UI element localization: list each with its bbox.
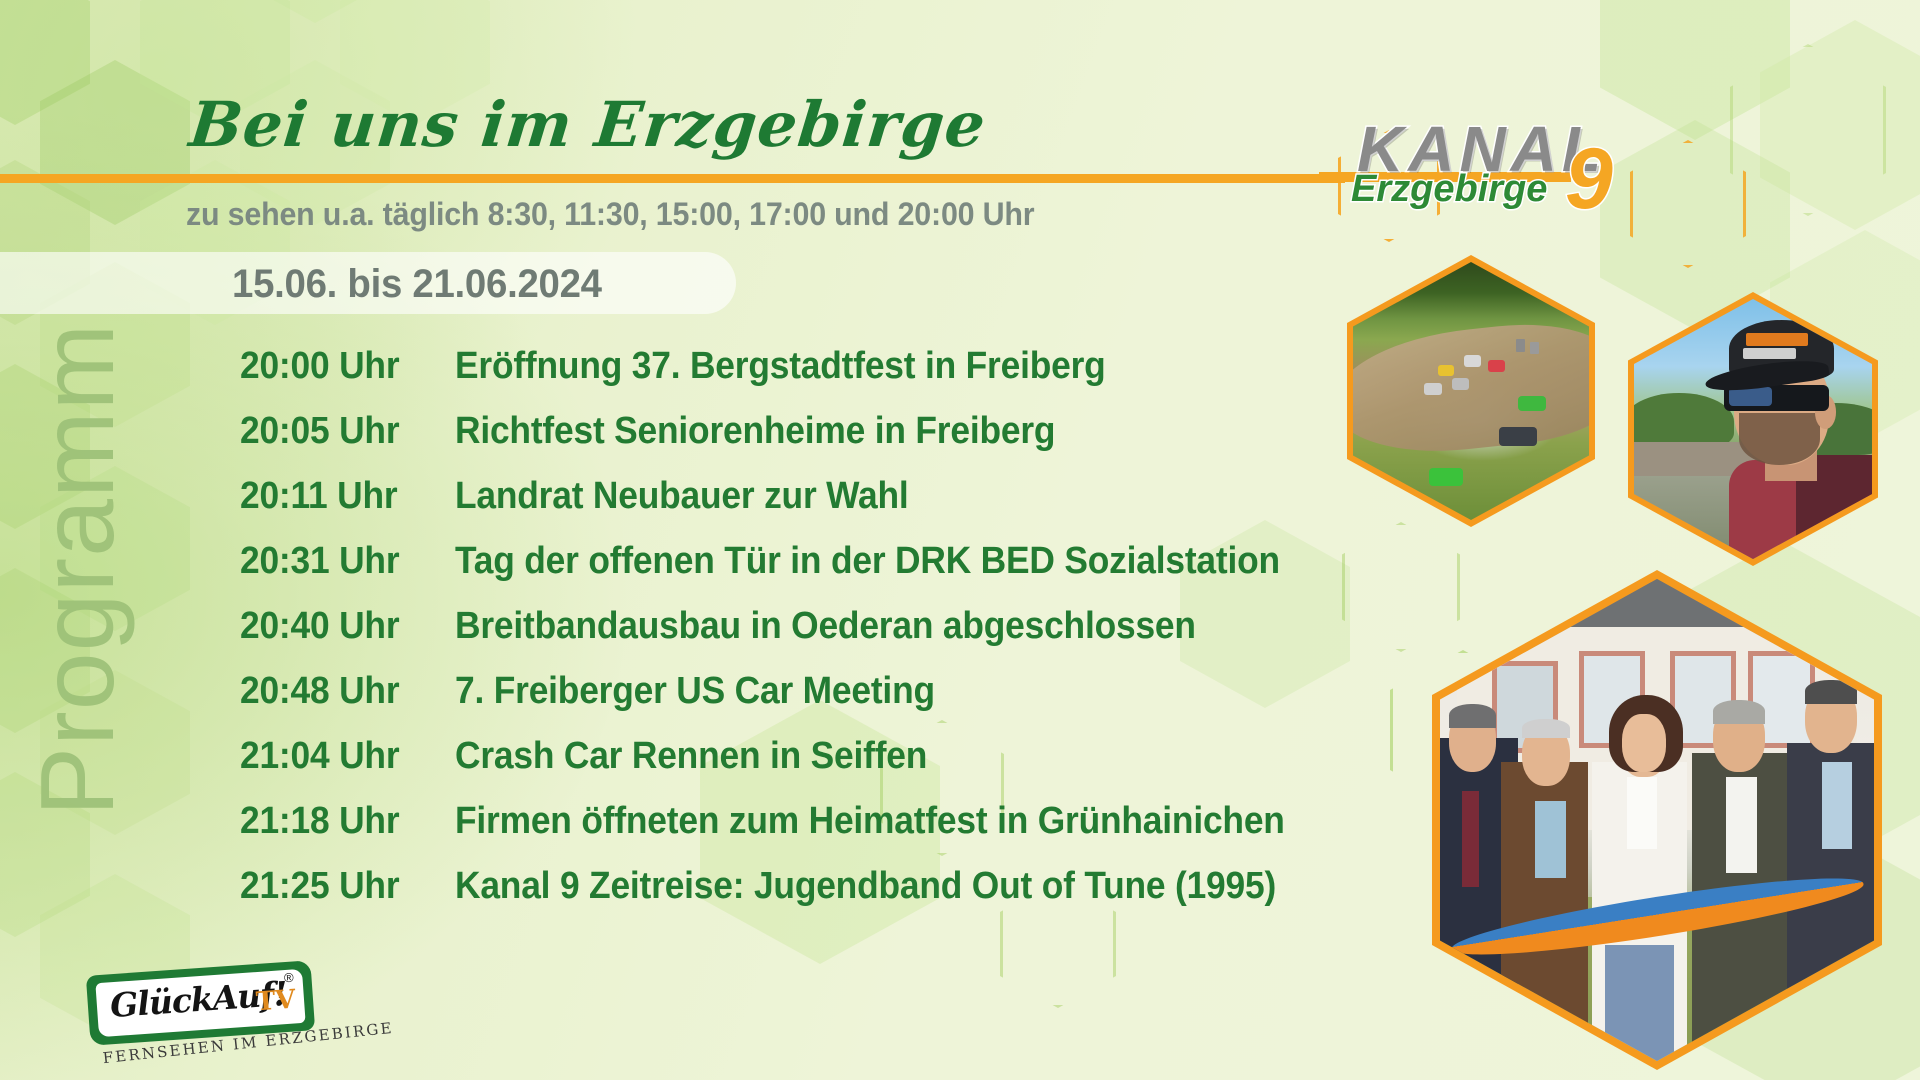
broadcast-times-subtitle: zu sehen u.a. täglich 8:30, 11:30, 15:00…: [186, 196, 1034, 233]
programme-time: 20:11 Uhr: [240, 475, 440, 518]
kanal9-logo-number: 9: [1565, 136, 1613, 222]
photo-us-car-meeting-visitor: [1634, 299, 1872, 559]
programme-row: 20:05 Uhr Richtfest Seniorenheime in Fre…: [240, 410, 1320, 475]
vertical-programm-label: Programm: [19, 323, 138, 816]
glueckauf-logo-tv-text: TV: [255, 985, 297, 1018]
photo-ribbon-cutting: [1440, 579, 1874, 1061]
programme-title: Kanal 9 Zeitreise: Jugendband Out of Tun…: [455, 865, 1276, 908]
programme-row: 20:40 Uhr Breitbandausbau in Oederan abg…: [240, 605, 1320, 670]
programme-title: Landrat Neubauer zur Wahl: [455, 475, 909, 518]
programme-time: 20:00 Uhr: [240, 345, 440, 388]
programme-title: Richtfest Seniorenheime in Freiberg: [455, 410, 1055, 453]
programme-time: 20:48 Uhr: [240, 670, 440, 713]
photo-crash-car-race-frame: [1347, 255, 1595, 527]
glueckauf-tv-logo: GlückAuf! TV ® FERNSEHEN IM ERZGEBIRGE: [88, 968, 328, 1064]
show-title: Bei uns im Erzgebirge: [186, 88, 989, 161]
programme-row: 21:18 Uhr Firmen öffneten zum Heimatfest…: [240, 800, 1320, 865]
programme-title: Tag der offenen Tür in der DRK BED Sozia…: [455, 540, 1280, 583]
programme-time: 20:05 Uhr: [240, 410, 440, 453]
programme-title: Eröffnung 37. Bergstadtfest in Freiberg: [455, 345, 1106, 388]
programme-time: 21:04 Uhr: [240, 735, 440, 778]
programme-row: 21:04 Uhr Crash Car Rennen in Seiffen: [240, 735, 1320, 800]
photo-us-car-meeting-visitor-frame: [1628, 292, 1878, 566]
programme-row: 20:48 Uhr 7. Freiberger US Car Meeting: [240, 670, 1320, 735]
date-range-text: 15.06. bis 21.06.2024: [232, 262, 602, 307]
programme-row: 20:31 Uhr Tag der offenen Tür in der DRK…: [240, 540, 1320, 605]
programme-time: 20:31 Uhr: [240, 540, 440, 583]
header-orange-rule: [0, 174, 1345, 183]
programme-title: Crash Car Rennen in Seiffen: [455, 735, 927, 778]
kanal9-logo-erzgebirge-text: Erzgebirge: [1351, 168, 1547, 211]
registered-trademark-icon: ®: [283, 970, 294, 986]
programme-row: 20:11 Uhr Landrat Neubauer zur Wahl: [240, 475, 1320, 540]
programme-title: Breitbandausbau in Oederan abgeschlossen: [455, 605, 1196, 648]
kanal9-logo: KANAL Erzgebirge 9: [1335, 112, 1635, 222]
photo-crash-car-race: [1353, 262, 1589, 520]
programme-title: Firmen öffneten zum Heimatfest in Grünha…: [455, 800, 1285, 843]
programme-row: 20:00 Uhr Eröffnung 37. Bergstadtfest in…: [240, 345, 1320, 410]
programme-title: 7. Freiberger US Car Meeting: [455, 670, 935, 713]
programme-list: 20:00 Uhr Eröffnung 37. Bergstadtfest in…: [240, 345, 1320, 930]
programme-time: 21:18 Uhr: [240, 800, 440, 843]
programme-time: 21:25 Uhr: [240, 865, 440, 908]
photo-ribbon-cutting-frame: [1432, 570, 1882, 1070]
programme-time: 20:40 Uhr: [240, 605, 440, 648]
programme-poster: Bei uns im Erzgebirge zu sehen u.a. tägl…: [0, 0, 1920, 1080]
programme-row: 21:25 Uhr Kanal 9 Zeitreise: Jugendband …: [240, 865, 1320, 930]
